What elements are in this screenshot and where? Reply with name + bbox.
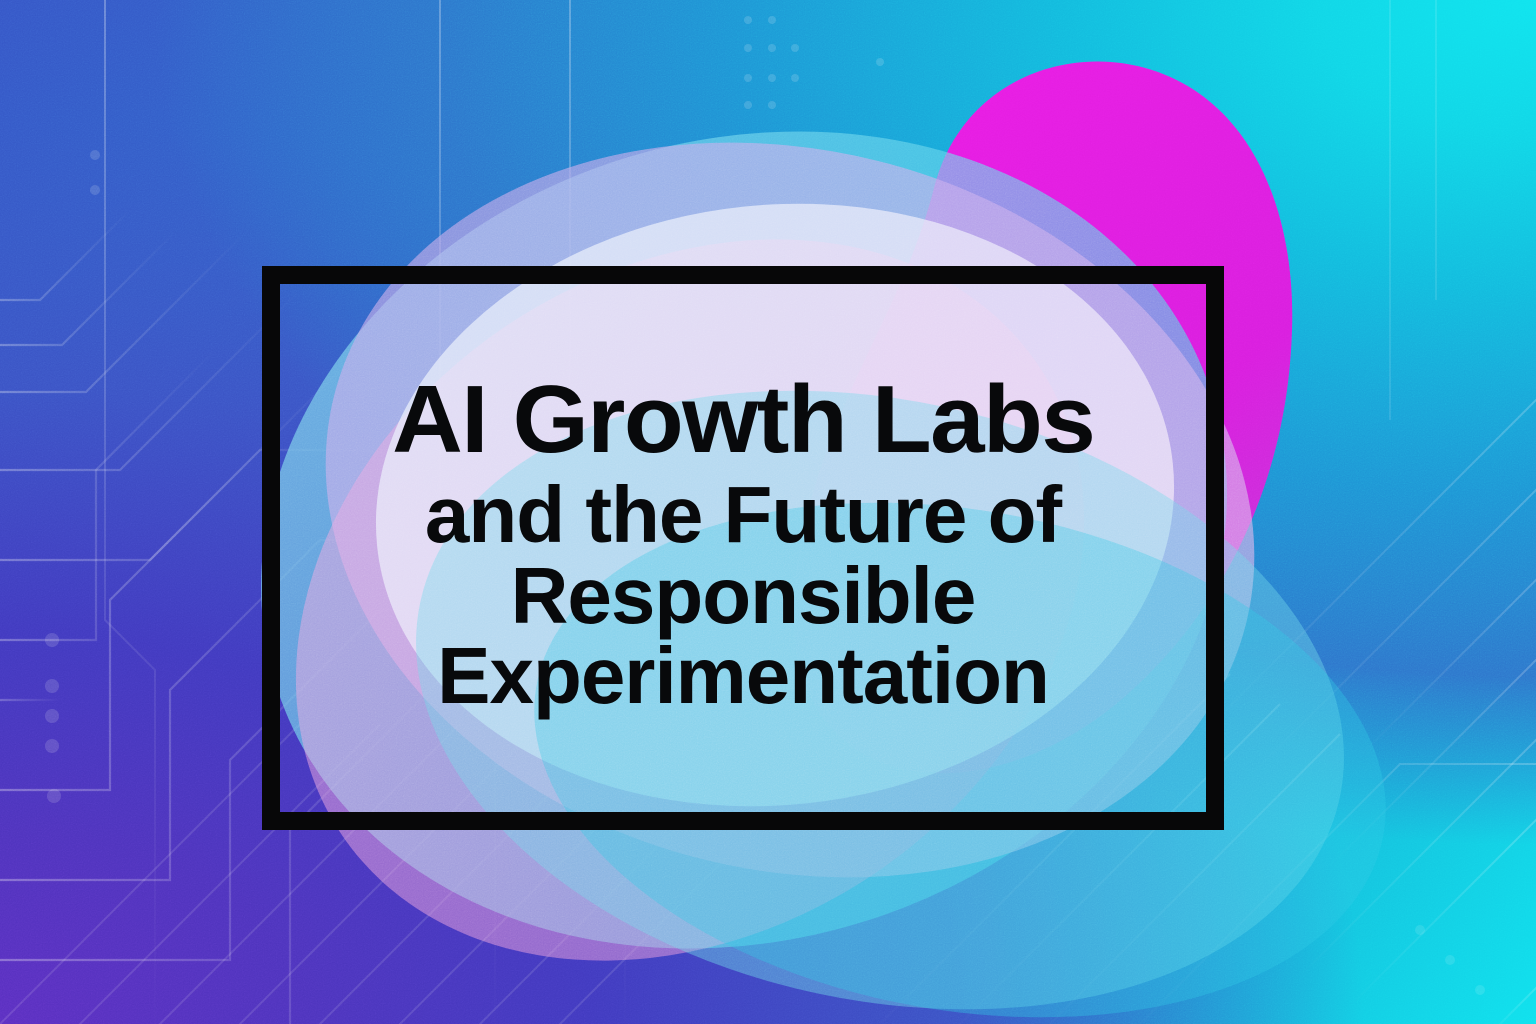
page-title: AI Growth Labs <box>392 373 1094 467</box>
subtitle-line-3: Experimentation <box>437 634 1049 719</box>
subtitle-line-2: Responsible <box>511 554 976 639</box>
subtitle-line-1: and the Future of <box>425 473 1061 558</box>
title-block: AI Growth Labs and the Future of Respons… <box>262 266 1224 830</box>
poster-canvas: AI Growth Labs and the Future of Respons… <box>0 0 1536 1024</box>
